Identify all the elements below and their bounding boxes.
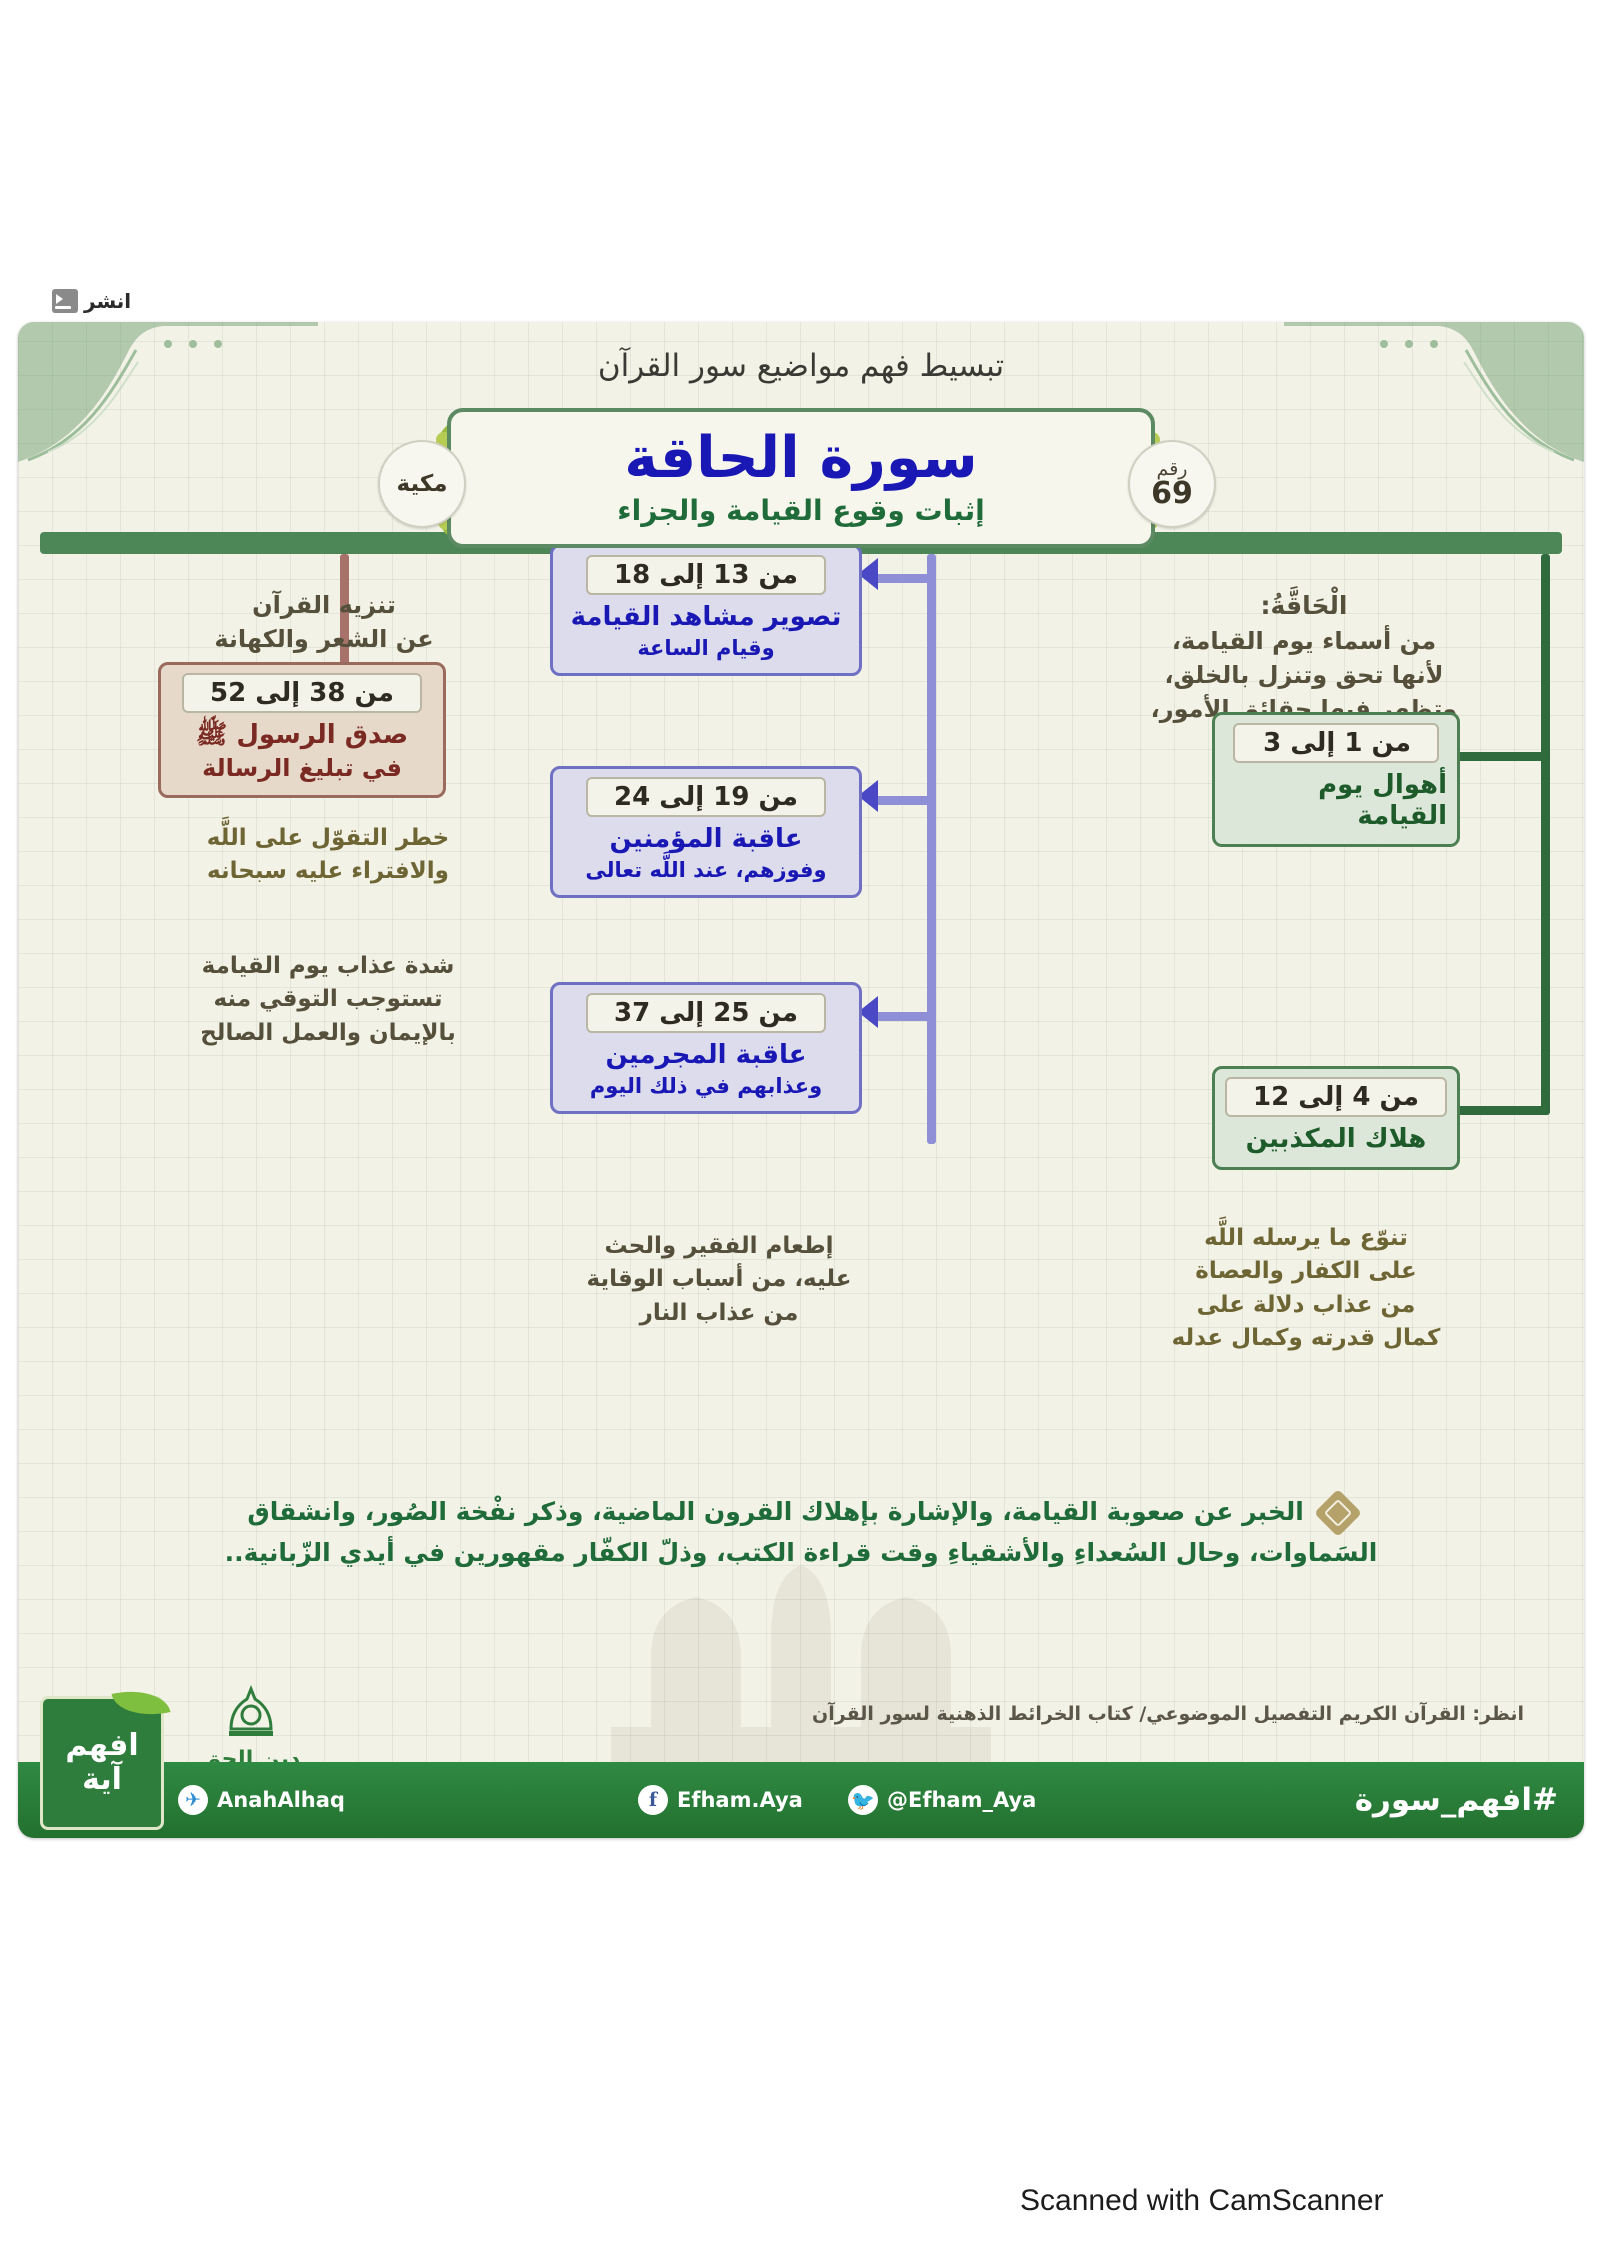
column-brown-head: تنزيه القرآن عن الشعر والكهانة [134,588,514,656]
page-kicker: تبسيط فهم مواضيع سور القرآن [18,348,1584,384]
footer-hashtag: #افهم_سورة [1355,1782,1558,1818]
diamond-bullet-icon [1314,1489,1362,1537]
verse-range: من 25 إلى 37 [586,993,826,1033]
summary-line-2: السَماوات، وحال السُعداءِ والأشقياءِ وقت… [225,1538,1378,1567]
brown-note2-line-3: بالإيمان والعمل الصالح [118,1017,538,1050]
social-twitter[interactable]: 🐦 @Efham_Aya [848,1785,1036,1815]
green-intro-title: الْحَاقَّةُ: [1104,588,1504,624]
green-intro-line-2: لأنها تحق وتنزل بالخلق، [1104,658,1504,692]
topic-box-blue-3[interactable]: من 25 إلى 37 عاقبة المجرمين وعذابهم في ذ… [550,982,862,1114]
topic-title: صدق الرسول ﷺ [196,720,408,751]
connector-branch-blue-1 [872,574,936,583]
summary-block: الخبر عن صعوبة القيامة، والإشارة بإهلاك … [78,1492,1524,1573]
corner-ornament-icon [18,322,318,472]
verse-range: من 19 إلى 24 [586,777,826,817]
brown-note-2: شدة عذاب يوم القيامة تستوجب التوقي منه ب… [118,950,538,1050]
topic-subtitle: وقيام الساعة [637,635,774,661]
summary-line-1: الخبر عن صعوبة القيامة، والإشارة بإهلاك … [247,1497,1303,1526]
page-title: سورة الحاقة [624,429,977,487]
brown-note-1: خطر التقوّل على اللَّه والافتراء عليه سب… [128,822,528,889]
badge-surah-number: رقم 69 [1128,440,1216,528]
green-note: تنوّع ما يرسله اللَّه على الكفار والعصاة… [1106,1222,1506,1355]
brand-logo-line-2: آية [82,1765,122,1795]
share-strip[interactable]: انشر [52,286,172,316]
topic-box-brown-1[interactable]: من 38 إلى 52 صدق الرسول ﷺ في تبليغ الرسا… [158,662,446,798]
footer-bar: ✈ AnahAlhaq f Efham.Aya 🐦 @Efham_Aya #اف… [18,1762,1584,1838]
brand-logo-line-1: افهم [65,1731,138,1761]
share-label: انشر [84,289,131,313]
surah-title-card: سورة الحاقة إثبات وقوع القيامة والجزاء [447,408,1155,548]
connector-rail-blue [927,554,936,1144]
brand-logo-efham-aya[interactable]: افهم آية [40,1696,164,1830]
topic-title: تصوير مشاهد القيامة [571,602,842,633]
verse-range: من 4 إلى 12 [1225,1077,1447,1117]
badge-makki-label: مكية [397,473,448,496]
brown-head-line-2: عن الشعر والكهانة [134,622,514,656]
facebook-handle: Efham.Aya [677,1788,803,1812]
verse-range: من 38 إلى 52 [182,673,422,713]
brand-logo-deen-alhaq[interactable]: دين الحق [196,1664,306,1772]
mosque-dome-icon [219,1685,283,1747]
brown-note1-line-2: والافتراء عليه سبحانه [128,855,528,888]
blue-note-line-3: من عذاب النار [494,1297,944,1330]
blue-note: إطعام الفقير والحث عليه، من أسباب الوقاي… [494,1230,944,1330]
social-telegram[interactable]: ✈ AnahAlhaq [178,1785,345,1815]
green-note-line-4: كمال قدرته وكمال عدله [1106,1322,1506,1355]
share-icon[interactable] [52,289,78,313]
topic-title: عاقبة المجرمين [605,1040,806,1071]
topic-box-green-2[interactable]: من 4 إلى 12 هلاك المكذبين [1212,1066,1460,1170]
source-note: انظر: القرآن الكريم التفصيل الموضوعي/ كت… [812,1703,1524,1725]
corner-ornament-icon [1284,322,1584,472]
connector-rail-green [1541,554,1550,1114]
infographic-poster: تبسيط فهم مواضيع سور القرآن مكية سورة ال… [18,322,1584,1838]
camscanner-watermark: Scanned with CamScanner [1020,2184,1384,2218]
topic-box-green-1[interactable]: من 1 إلى 3 أهوال يوم القيامة [1212,712,1460,847]
brown-note1-line-1: خطر التقوّل على اللَّه [128,822,528,855]
page-subtitle: إثبات وقوع القيامة والجزاء [617,494,984,527]
facebook-icon: f [638,1785,668,1815]
verse-range: من 13 إلى 18 [586,555,826,595]
topic-subtitle: وفوزهم، عند اللَّه تعالى [585,857,826,883]
brown-note2-line-2: تستوجب التوقي منه [118,983,538,1016]
connector-branch-blue-3 [872,1012,936,1021]
brown-head-line-1: تنزيه القرآن [134,588,514,622]
twitter-handle: @Efham_Aya [887,1788,1036,1812]
blue-note-line-2: عليه، من أسباب الوقاية [494,1263,944,1296]
telegram-icon: ✈ [178,1785,208,1815]
topic-subtitle: في تبليغ الرسالة [202,753,402,783]
twitter-icon: 🐦 [848,1785,878,1815]
social-facebook[interactable]: f Efham.Aya [638,1785,803,1815]
green-note-line-2: على الكفار والعصاة [1106,1255,1506,1288]
green-intro-line-1: من أسماء يوم القيامة، [1104,624,1504,658]
topic-subtitle: وعذابهم في ذلك اليوم [590,1073,822,1099]
badge-number-value: 69 [1151,479,1193,509]
telegram-handle: AnahAlhaq [217,1788,345,1812]
verse-range: من 1 إلى 3 [1233,723,1439,763]
green-note-line-1: تنوّع ما يرسله اللَّه [1106,1222,1506,1255]
blue-note-line-1: إطعام الفقير والحث [494,1230,944,1263]
connector-branch-blue-2 [872,796,936,805]
green-note-line-3: من عذاب دلالة على [1106,1289,1506,1322]
badge-makki: مكية [378,440,466,528]
topic-box-blue-2[interactable]: من 19 إلى 24 عاقبة المؤمنين وفوزهم، عند … [550,766,862,898]
topic-title: هلاك المكذبين [1246,1124,1427,1155]
brown-note2-line-1: شدة عذاب يوم القيامة [118,950,538,983]
topic-title: أهوال يوم القيامة [1225,770,1447,832]
topic-box-blue-1[interactable]: من 13 إلى 18 تصوير مشاهد القيامة وقيام ا… [550,544,862,676]
topic-title: عاقبة المؤمنين [609,824,802,855]
